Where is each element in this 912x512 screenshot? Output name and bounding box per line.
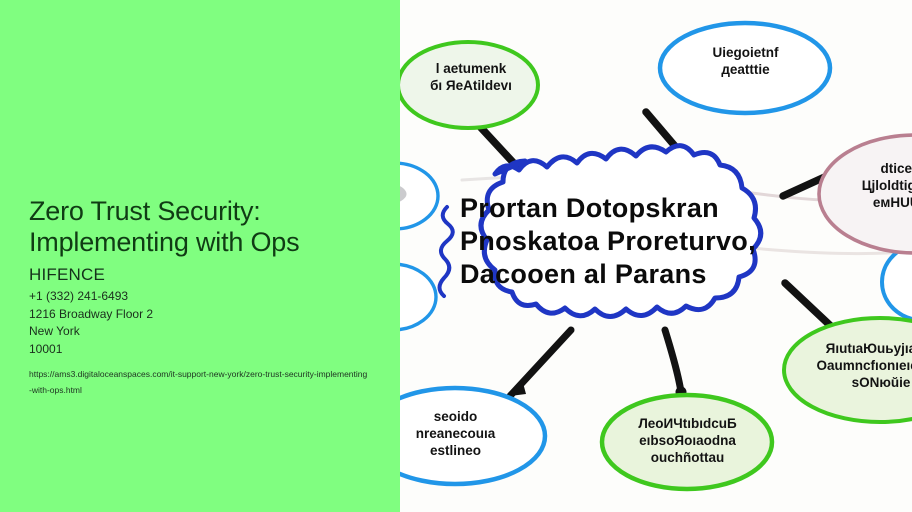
brand-name: HIFENCE — [29, 264, 379, 286]
mindmap-illustration: Prortan Dotopskran Pnoskatoa Proreturvo,… — [400, 0, 912, 512]
page-title: Zero Trust Security: Implementing with O… — [29, 196, 379, 258]
node-right-edge-blue-partial — [882, 244, 912, 320]
node-left-edge-blue-lower — [400, 264, 436, 330]
address-zip: 10001 — [29, 341, 379, 359]
source-url: https://ams3.digitaloceanspaces.com/it-s… — [29, 366, 369, 398]
node-bottom-left-blue — [400, 388, 545, 484]
info-block: Zero Trust Security: Implementing with O… — [29, 196, 379, 398]
squiggle-decoration — [440, 207, 453, 296]
node-right-green — [784, 318, 912, 422]
screenshot-root: Zero Trust Security: Implementing with O… — [0, 0, 912, 512]
phone-number: +1 (332) 241-6493 — [29, 288, 379, 306]
address-city: New York — [29, 323, 379, 341]
node-left-edge-blue-upper — [400, 163, 438, 229]
node-right-pink — [819, 135, 912, 253]
node-top-right-blue — [660, 23, 830, 113]
central-node-label: Prortan Dotopskran Pnoskatoa Proreturvo,… — [460, 192, 790, 291]
address-street: 1216 Broadway Floor 2 — [29, 306, 379, 324]
node-bottom-center-green — [602, 395, 772, 489]
node-top-left-green — [400, 42, 538, 128]
left-info-panel: Zero Trust Security: Implementing with O… — [0, 0, 400, 512]
